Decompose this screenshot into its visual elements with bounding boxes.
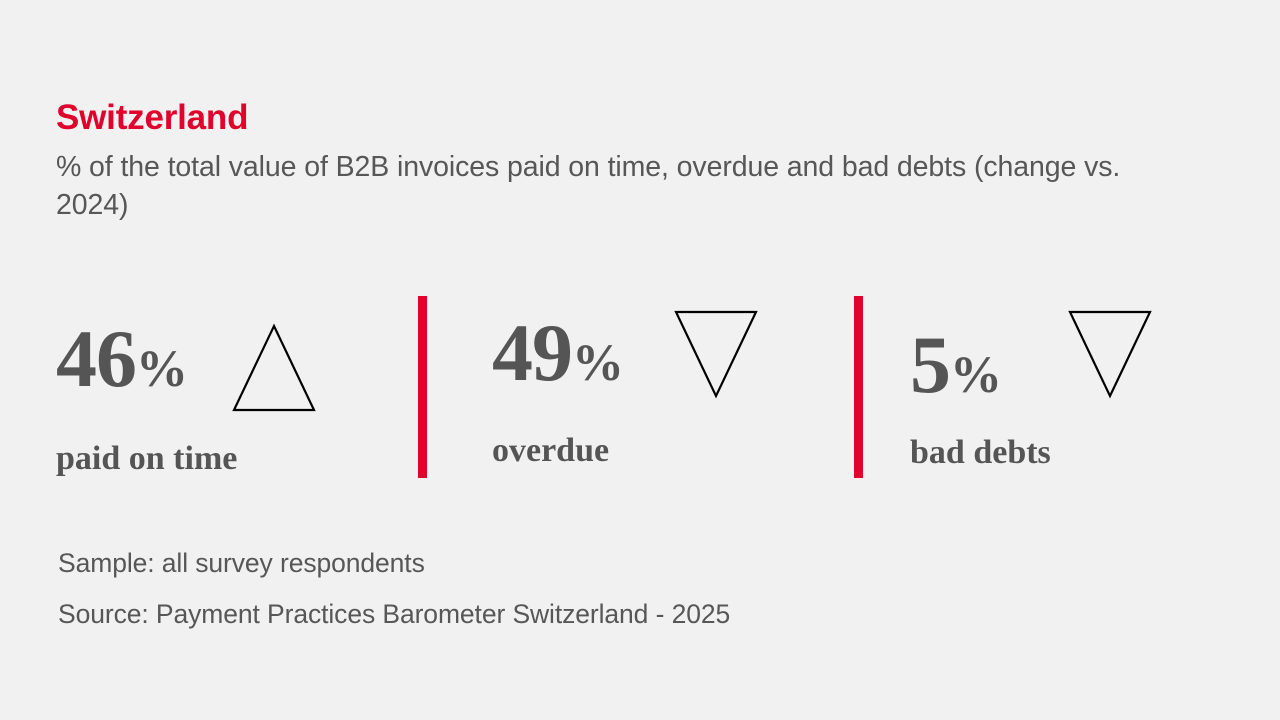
stat-value-bad-debts: 5% — [910, 324, 1002, 406]
stat-number: 46 — [56, 313, 136, 404]
stat-label-bad-debts: bad debts — [910, 436, 1154, 470]
header: Switzerland % of the total value of B2B … — [56, 100, 1206, 225]
triangle-down-icon — [1066, 308, 1154, 400]
stat-label-paid-on-time: paid on time — [56, 442, 318, 476]
triangle-up-icon — [230, 322, 318, 414]
stats-band: 46% paid on time 49% overdue — [0, 290, 1280, 490]
stat-value-row: 5% — [910, 324, 1154, 406]
stat-block-paid-on-time: 46% paid on time — [56, 290, 318, 476]
stat-value-row: 49% — [492, 312, 760, 400]
percent-sign: % — [572, 335, 624, 392]
stat-label-overdue: overdue — [492, 434, 760, 468]
percent-sign: % — [950, 347, 1002, 404]
percent-sign: % — [136, 341, 188, 398]
footer: Sample: all survey respondents Source: P… — [58, 538, 730, 640]
stat-value-row: 46% — [56, 318, 318, 414]
stat-number: 49 — [492, 307, 572, 398]
stat-value-paid-on-time: 46% — [56, 318, 188, 400]
stat-value-overdue: 49% — [492, 312, 624, 394]
page-title: Switzerland — [56, 100, 1206, 137]
stat-number: 5 — [910, 319, 950, 410]
stat-block-overdue: 49% overdue — [492, 290, 760, 468]
triangle-down-icon — [672, 308, 760, 400]
sample-note: Sample: all survey respondents — [58, 538, 730, 589]
subtitle: % of the total value of B2B invoices pai… — [56, 149, 1186, 225]
stat-block-bad-debts: 5% bad debts — [910, 290, 1154, 470]
source-note: Source: Payment Practices Barometer Swit… — [58, 589, 730, 640]
stat-divider-1 — [418, 296, 427, 478]
infographic-canvas: Switzerland % of the total value of B2B … — [0, 0, 1280, 720]
stat-divider-2 — [854, 296, 863, 478]
